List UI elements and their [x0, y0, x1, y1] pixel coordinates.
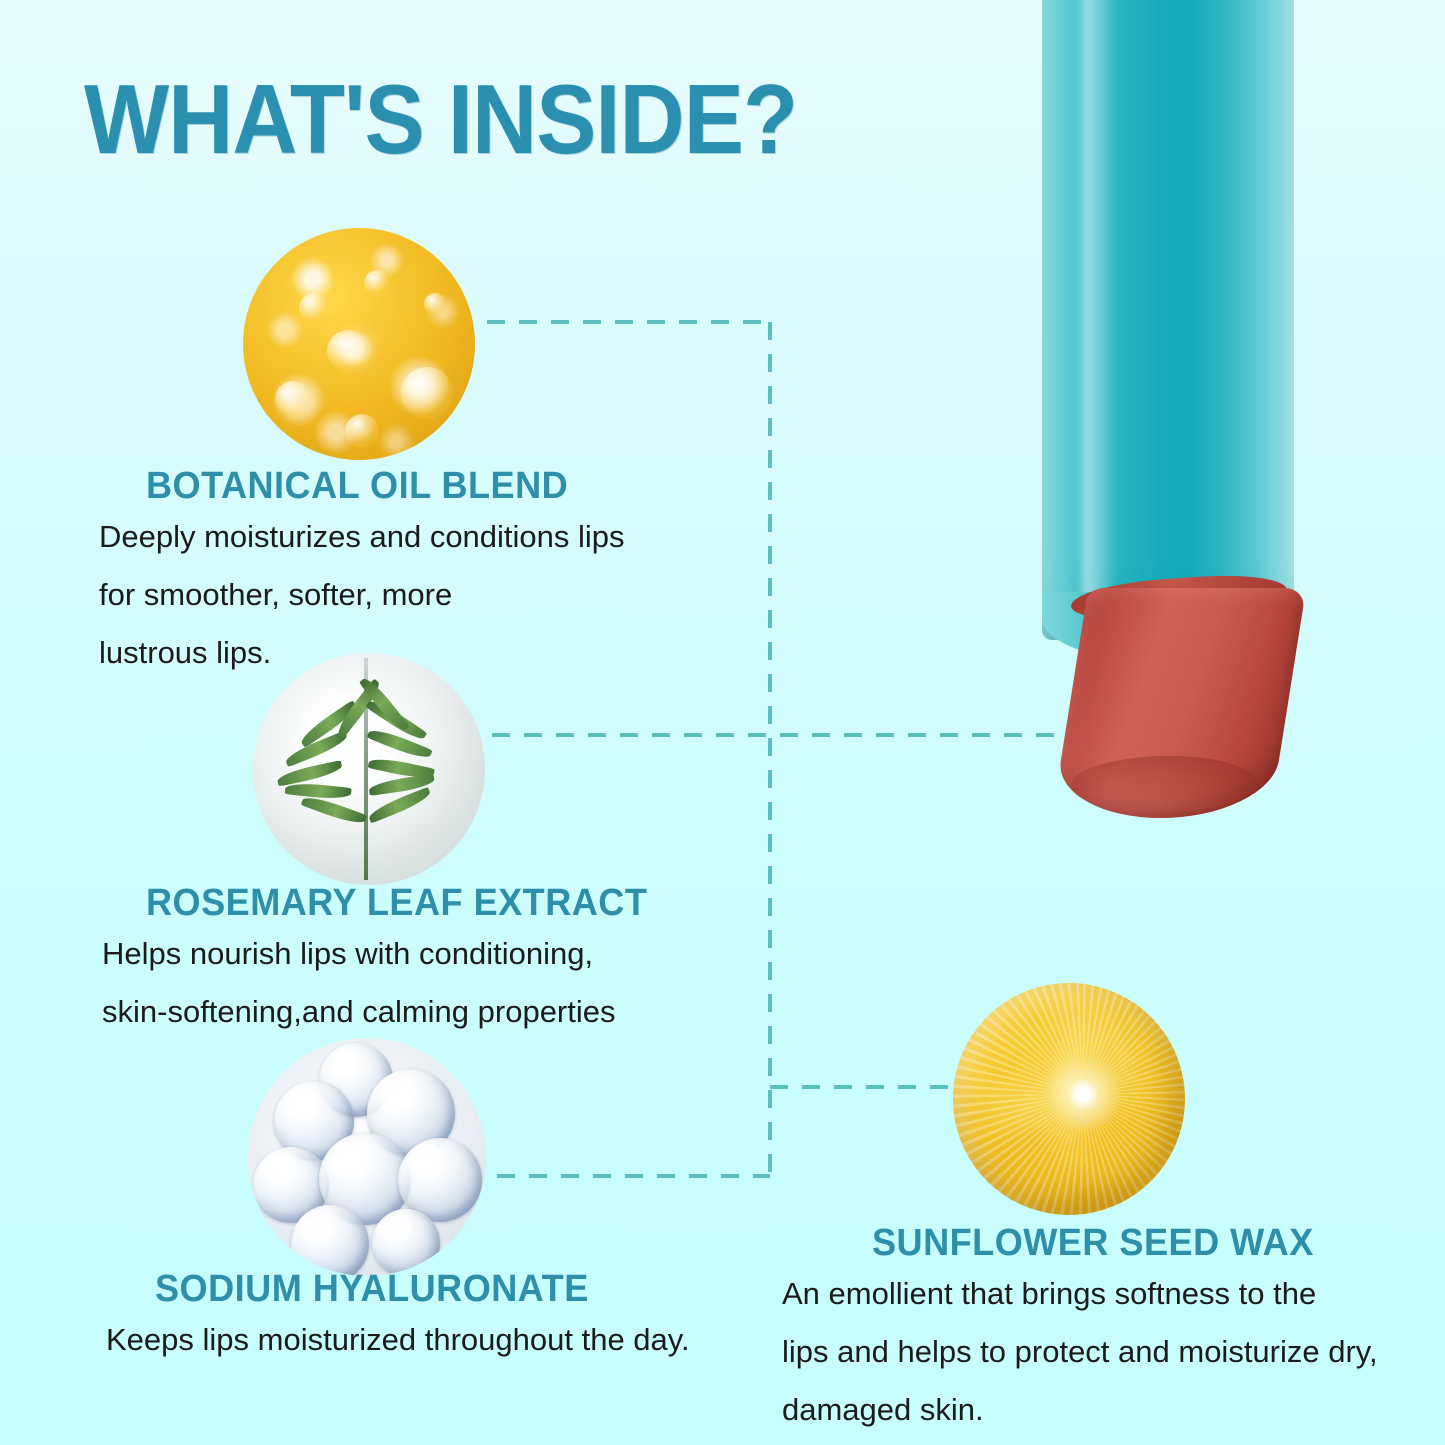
- ingredient-heading: SUNFLOWER SEED WAX: [872, 1222, 1352, 1265]
- ingredient-rosemary-leaf-extract: ROSEMARY LEAF EXTRACT Helps nourish lips…: [146, 882, 674, 1041]
- infographic-canvas: WHAT'S INSIDE?: [0, 0, 1445, 1445]
- page-title: WHAT'S INSIDE?: [84, 70, 797, 168]
- ingredient-line: lips and helps to protect and moisturize…: [782, 1323, 1378, 1381]
- ingredient-sunflower-seed-wax: SUNFLOWER SEED WAX An emollient that bri…: [872, 1222, 1378, 1439]
- ingredient-line: Keeps lips moisturized throughout the da…: [106, 1311, 690, 1369]
- sunflower-seed-wax-swatch: [953, 983, 1185, 1215]
- ingredient-line: Helps nourish lips with conditioning,: [102, 925, 674, 983]
- lipstick-tube: [1042, 0, 1294, 640]
- ingredient-sodium-hyaluronate: SODIUM HYALURONATE Keeps lips moisturize…: [155, 1268, 690, 1369]
- sodium-hyaluronate-swatch: [248, 1038, 486, 1276]
- ingredient-botanical-oil-blend: BOTANICAL OIL BLEND Deeply moisturizes a…: [146, 465, 625, 682]
- ingredient-line: damaged skin.: [782, 1381, 1378, 1439]
- ingredient-heading: SODIUM HYALURONATE: [155, 1268, 663, 1311]
- ingredient-line: for smoother, softer, more: [99, 566, 625, 624]
- botanical-oil-blend-swatch: [243, 228, 475, 460]
- rosemary-leaf-extract-swatch: [253, 653, 485, 885]
- ingredient-line: skin-softening,and calming properties: [102, 983, 674, 1041]
- ingredient-heading: BOTANICAL OIL BLEND: [146, 465, 601, 508]
- ingredient-line: lustrous lips.: [99, 624, 625, 682]
- lipstick-product-image: [1028, 0, 1308, 872]
- ingredient-line: Deeply moisturizes and conditions lips: [99, 508, 625, 566]
- lipstick-bullet: [1052, 588, 1306, 818]
- ingredient-heading: ROSEMARY LEAF EXTRACT: [146, 882, 647, 925]
- ingredient-line: An emollient that brings softness to the: [782, 1265, 1378, 1323]
